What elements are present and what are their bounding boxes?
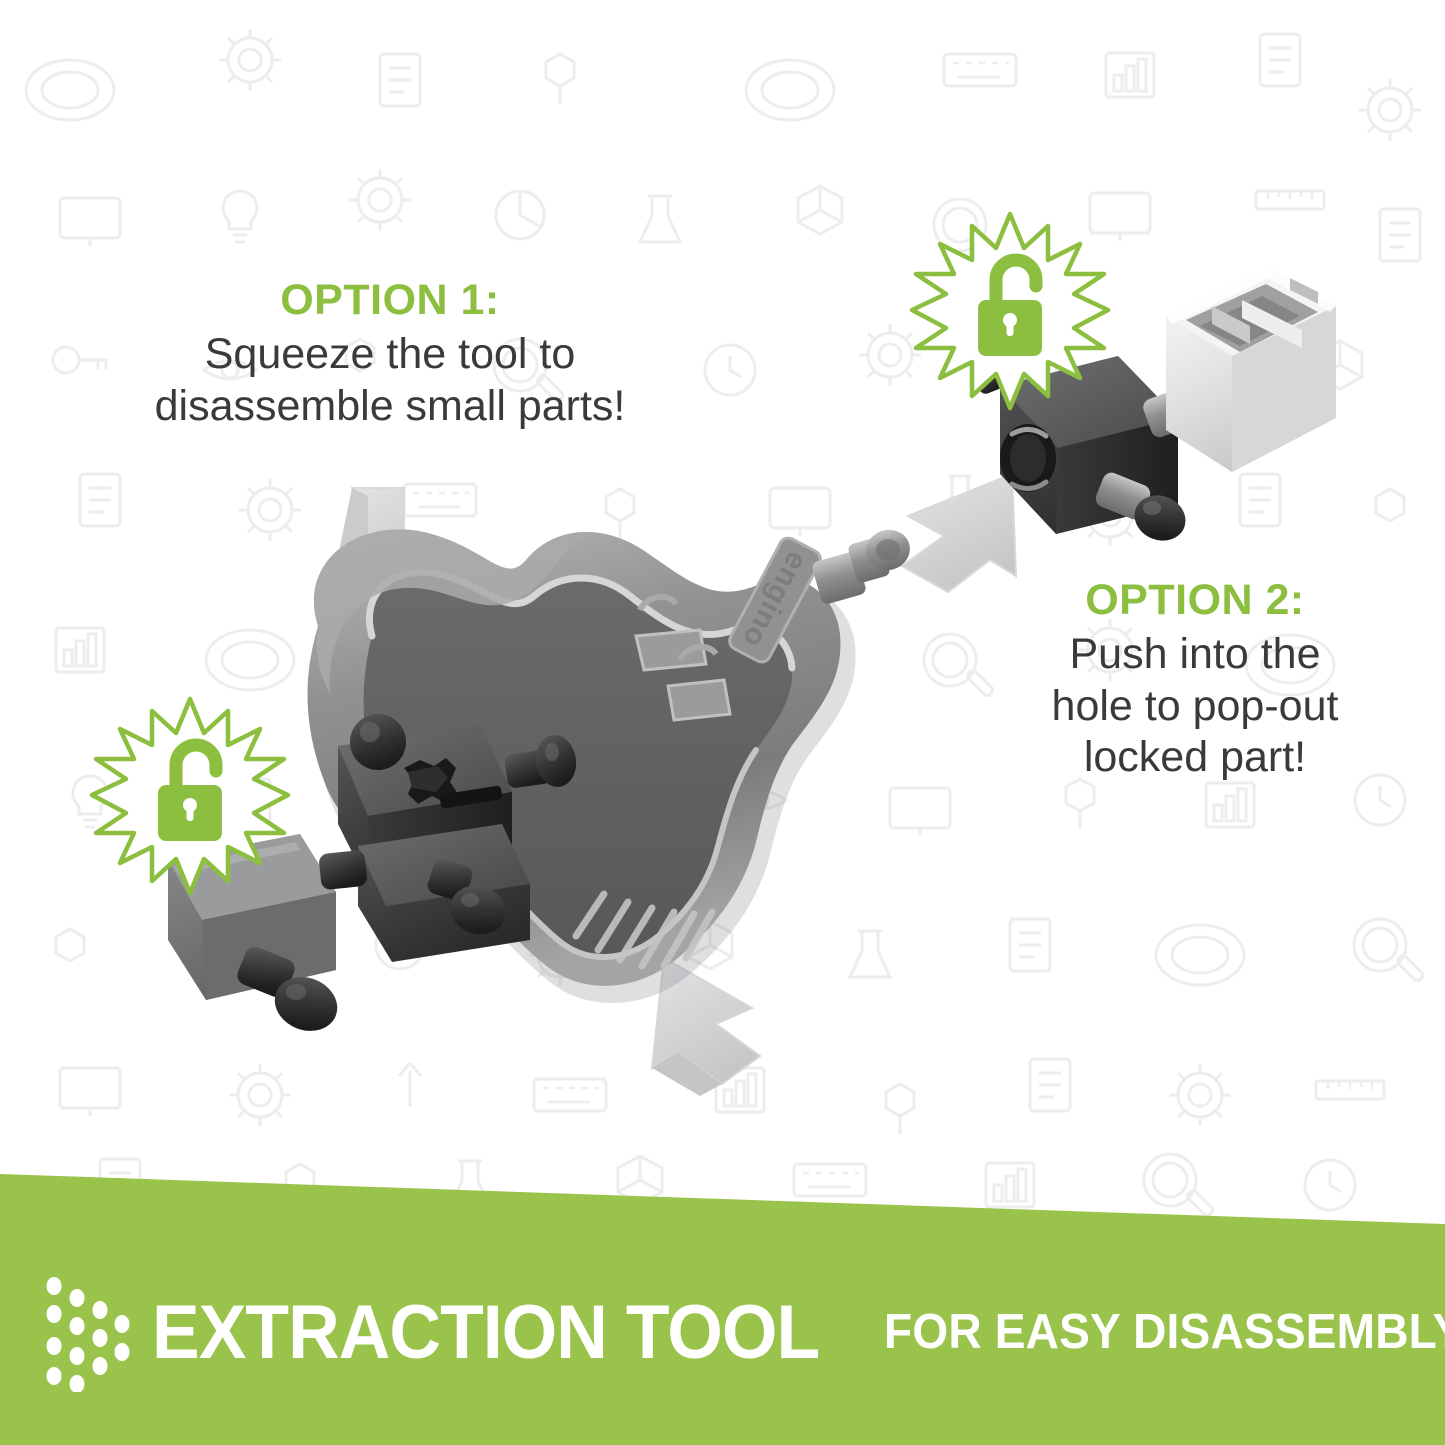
option-2-title: OPTION 2: [985,578,1405,623]
banner-content: EXTRACTION TOOL FOR EASY DISASSEMBLY [0,1219,1445,1445]
option-1-body-line-1: Squeeze the tool to [70,329,710,381]
option-2-callout: OPTION 2: Push into the hole to pop-out … [985,578,1405,784]
svg-text:engino: engino [736,546,814,654]
side-pin-right [504,732,580,789]
badge-bottom-left [88,693,293,898]
arrow-bottom-icon [652,958,760,1096]
cube-pin-right [1093,470,1192,548]
option-1-title: OPTION 1: [70,278,710,323]
option-1-callout: OPTION 1: Squeeze the tool to disassembl… [70,278,710,432]
bottom-banner: EXTRACTION TOOL FOR EASY DISASSEMBLY [0,1140,1445,1445]
option-2-body-line-1: Push into the [985,629,1405,681]
ball-pin-lower [425,857,512,942]
infographic-canvas: engino [0,0,1445,1445]
arrow-right-icon [902,474,1016,592]
cube-pin-left [234,944,345,1040]
banner-title: EXTRACTION TOOL [152,1289,819,1376]
dot-chevron-icon [44,1272,130,1392]
badge-top-right [908,208,1113,413]
option-2-body-line-3: locked part! [985,732,1405,784]
internal-tabs [636,597,730,720]
cube-to-white-link [1141,373,1222,439]
tool-connector-rod [811,525,915,606]
arrow-top-left-icon [338,488,438,606]
grip-ribs [576,894,712,966]
dark-connector-cluster [338,714,579,962]
extraction-tool-body: engino [308,525,915,1003]
white-block-part [1166,268,1336,472]
option-2-body-line-2: hole to pop-out [985,681,1405,733]
option-1-body-line-2: disassemble small parts! [70,381,710,433]
ball-pin-upper [350,714,406,770]
brand-logo-plate: engino [726,535,823,665]
banner-subtitle: FOR EASY DISASSEMBLY [884,1304,1445,1360]
